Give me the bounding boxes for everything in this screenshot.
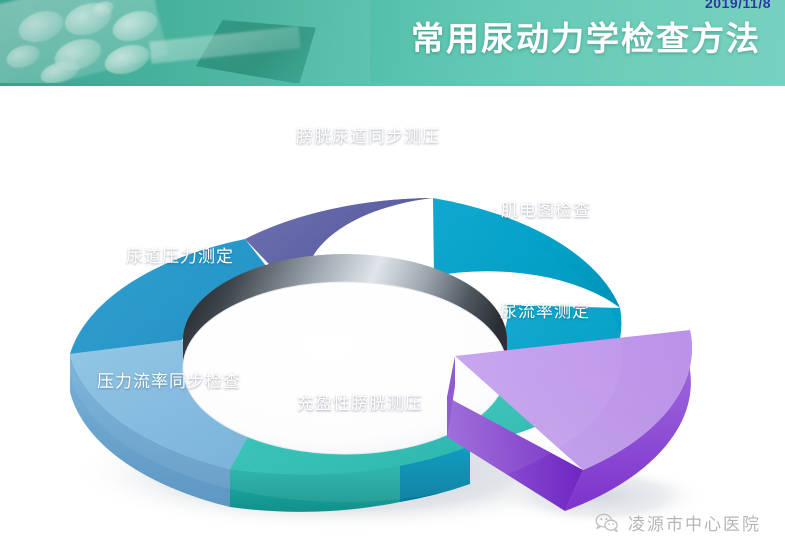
wechat-icon: [595, 513, 619, 533]
timestamp: 2019/11/8: [705, 0, 771, 11]
donut-chart: 膀胱尿道同步测压 肌电图检查 尿流率测定 充盈性膀胱测压 压力流率同步检查 尿道…: [0, 86, 785, 551]
slide-canvas: 2019/11/8 常用尿动力学检查方法: [0, 0, 785, 551]
donut-sheen: [67, 206, 623, 502]
slide-header-banner: 2019/11/8 常用尿动力学检查方法: [0, 0, 785, 85]
watermark-text: 凌源市中心医院: [628, 510, 761, 535]
donut-chart-svg: [0, 86, 785, 551]
watermark: 凌源市中心医院: [595, 510, 761, 535]
page-title: 常用尿动力学检查方法: [411, 12, 761, 60]
